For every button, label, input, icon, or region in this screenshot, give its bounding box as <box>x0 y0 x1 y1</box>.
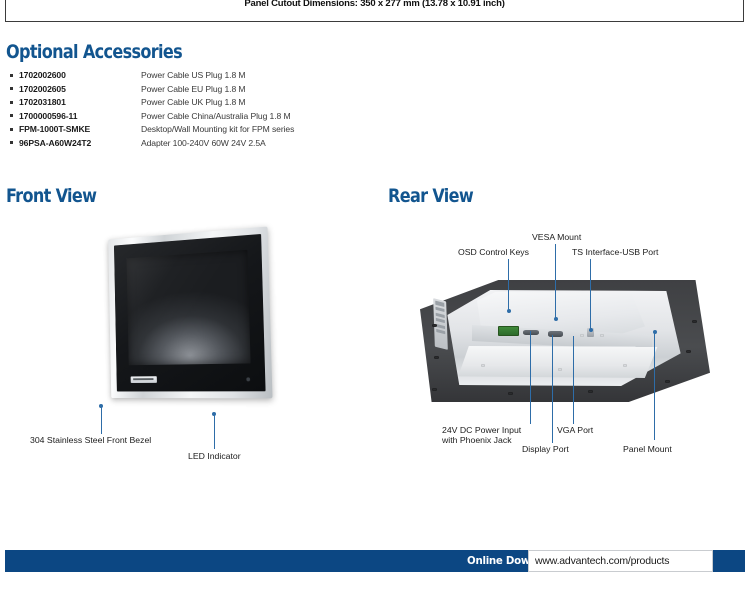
callout-leader-power-input <box>530 331 531 424</box>
callout-leader-display-port <box>552 335 553 443</box>
accessory-description: Power Cable US Plug 1.8 M <box>141 69 370 83</box>
mounting-hole <box>434 356 439 359</box>
screw-icon <box>580 334 584 337</box>
mounting-hole <box>432 324 437 327</box>
optional-accessories-list: 1702002600 Power Cable US Plug 1.8 M 170… <box>10 69 370 150</box>
callout-label-display-port: Display Port <box>522 444 569 455</box>
callout-label-ts-usb-port: TS Interface-USB Port <box>572 247 658 258</box>
screw-icon <box>558 368 562 371</box>
black-inner-bezel <box>114 234 266 391</box>
list-item: FPM-1000T-SMKE Desktop/Wall Mounting kit… <box>10 123 370 137</box>
accessory-description: Adapter 100-240V 60W 24V 2.5A <box>141 137 370 151</box>
callout-dot-panel-mount <box>653 330 657 334</box>
rear-view-figure: VESA Mount OSD Control Keys TS Interface… <box>380 218 750 468</box>
callout-leader-panel-mount <box>654 333 655 440</box>
mounting-hole <box>665 380 670 383</box>
accessory-sku: 1702031801 <box>19 96 141 110</box>
front-panel-monitor-image <box>108 227 272 399</box>
optional-accessories-heading: Optional Accessories <box>6 41 182 63</box>
bullet-icon <box>10 69 19 83</box>
lower-chassis-plate <box>454 346 666 378</box>
brand-logo <box>131 376 157 383</box>
list-item: 1700000596-11 Power Cable China/Australi… <box>10 110 370 124</box>
accessory-sku: 1702002605 <box>19 83 141 97</box>
callout-leader-vga-port <box>573 336 574 424</box>
accessory-sku: 1702002600 <box>19 69 141 83</box>
screw-icon <box>623 364 627 367</box>
screw-icon <box>481 364 485 367</box>
accessory-sku: 1700000596-11 <box>19 110 141 124</box>
callout-leader-ts-usb-port <box>590 259 591 330</box>
panel-cutout-spec-box: Panel Cutout Dimensions: 350 x 277 mm (1… <box>5 0 744 22</box>
list-item: 1702002605 Power Cable EU Plug 1.8 M <box>10 83 370 97</box>
list-item: 1702031801 Power Cable UK Plug 1.8 M <box>10 96 370 110</box>
callout-label-vesa-mount: VESA Mount <box>532 232 581 243</box>
accessory-sku: FPM-1000T-SMKE <box>19 123 141 137</box>
callout-leader-vesa-mount <box>555 244 556 319</box>
bullet-icon <box>10 137 19 151</box>
screw-icon <box>600 334 604 337</box>
callout-label-osd-control-keys: OSD Control Keys <box>458 247 529 258</box>
callout-leader-bezel <box>101 407 102 434</box>
display-screen <box>127 250 251 365</box>
callout-label-power-input-line1: 24V DC Power Input <box>442 425 521 436</box>
accessory-description: Desktop/Wall Mounting kit for FPM series <box>141 123 370 137</box>
vga-port-connector <box>548 331 563 337</box>
online-download-url[interactable]: www.advantech.com/products <box>535 555 669 567</box>
rear-view-heading: Rear View <box>388 185 473 207</box>
callout-leader-osd-control-keys <box>508 259 509 311</box>
bullet-icon <box>10 110 19 124</box>
accessory-description: Power Cable UK Plug 1.8 M <box>141 96 370 110</box>
list-item: 96PSA-A60W24T2 Adapter 100-240V 60W 24V … <box>10 137 370 151</box>
bullet-icon <box>10 96 19 110</box>
panel-cutout-dimensions-text: Panel Cutout Dimensions: 350 x 277 mm (1… <box>6 0 743 9</box>
phoenix-jack-power-connector <box>498 326 519 336</box>
rear-panel-image <box>420 280 710 402</box>
mounting-hole <box>692 320 697 323</box>
callout-label-vga-port: VGA Port <box>557 425 593 436</box>
callout-dot-osd-control-keys <box>507 309 511 313</box>
front-view-figure: 304 Stainless Steel Front Bezel LED Indi… <box>0 218 375 468</box>
accessory-description: Power Cable EU Plug 1.8 M <box>141 83 370 97</box>
callout-label-bezel: 304 Stainless Steel Front Bezel <box>30 435 151 446</box>
callout-dot-vesa-mount <box>554 317 558 321</box>
mounting-hole <box>686 350 691 353</box>
accessory-sku: 96PSA-A60W24T2 <box>19 137 141 151</box>
front-view-heading: Front View <box>6 185 96 207</box>
callout-label-panel-mount: Panel Mount <box>623 444 672 455</box>
callout-label-power-input-line2: with Phoenix Jack <box>442 435 512 446</box>
callout-dot-ts-usb-port <box>589 328 593 332</box>
mounting-hole <box>432 388 437 391</box>
bullet-icon <box>10 83 19 97</box>
accessory-description: Power Cable China/Australia Plug 1.8 M <box>141 110 370 124</box>
stainless-steel-bezel <box>108 227 272 399</box>
led-indicator-dot <box>246 377 250 381</box>
list-item: 1702002600 Power Cable US Plug 1.8 M <box>10 69 370 83</box>
bullet-icon <box>10 123 19 137</box>
mounting-hole <box>508 392 513 395</box>
callout-label-led: LED Indicator <box>188 451 241 462</box>
callout-leader-led <box>214 415 215 449</box>
mounting-hole <box>588 390 593 393</box>
